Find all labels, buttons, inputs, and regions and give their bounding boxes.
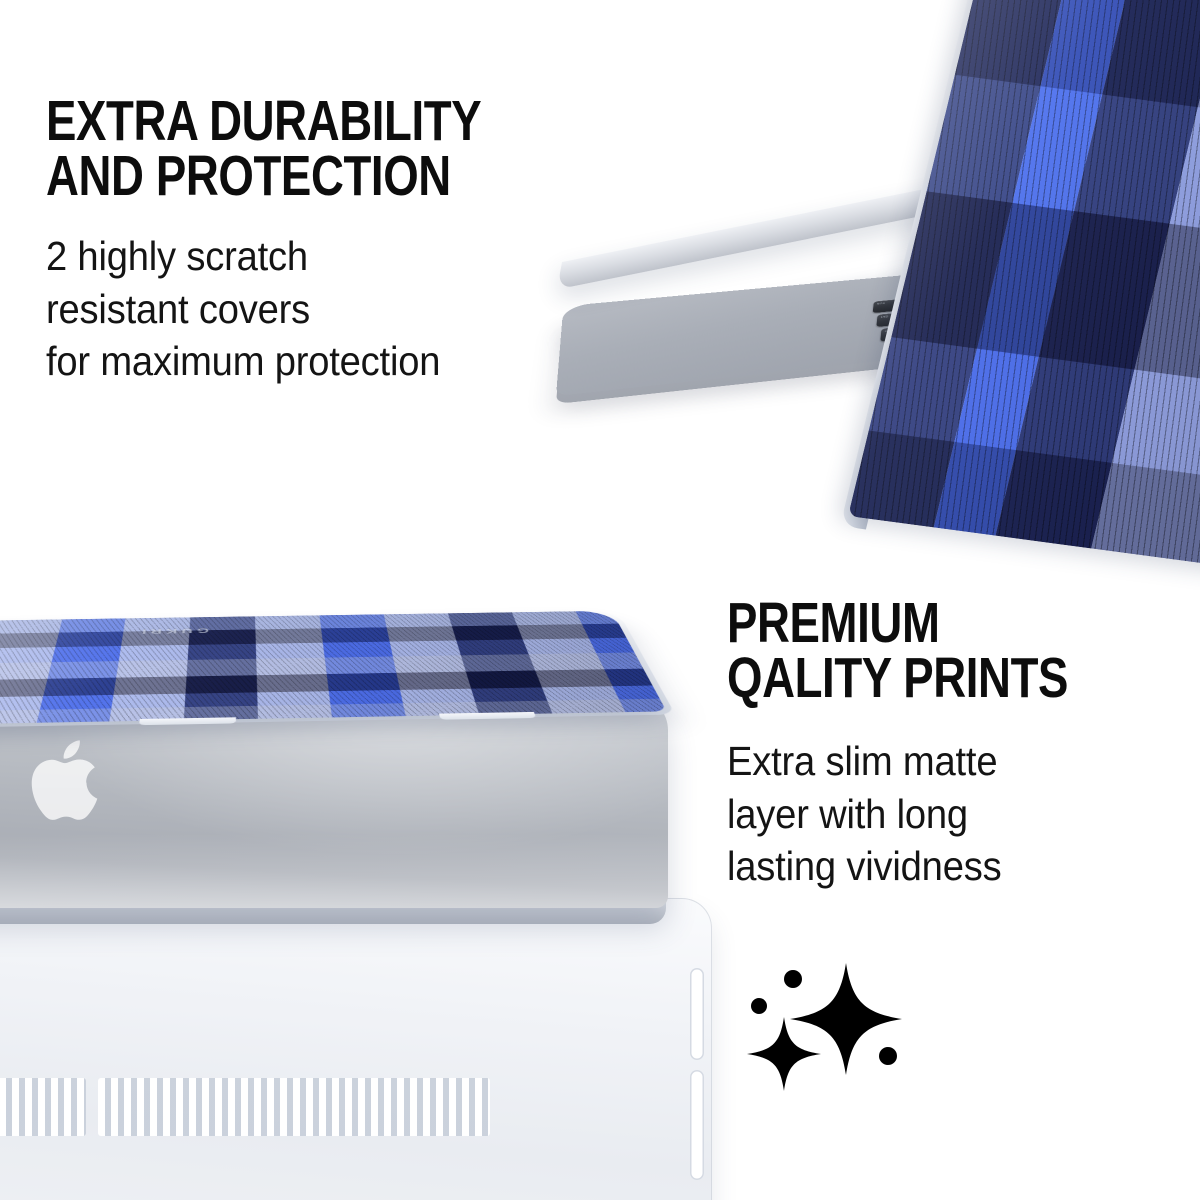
body-line: lasting vividness [727, 840, 1123, 892]
plaid-pattern-cover [0, 611, 667, 725]
plaid-top-cover: GUKRI [0, 611, 667, 725]
premium-headline: PREMIUM QALITY PRINTS [727, 596, 1068, 705]
headline-line: PREMIUM [727, 596, 1068, 651]
headline-line: QALITY PRINTS [727, 651, 1068, 706]
body-line: resistant covers [46, 283, 552, 335]
headline-line: AND PROTECTION [46, 149, 481, 204]
headline-line: EXTRA DURABILITY [46, 94, 481, 149]
durability-headline: EXTRA DURABILITY AND PROTECTION [46, 94, 481, 203]
macbook-lid [0, 696, 680, 946]
durability-body: 2 highly scratch resistant covers for ma… [46, 230, 552, 387]
body-line: for maximum protection [46, 335, 552, 387]
exploded-case-stack: GUKRI [0, 468, 750, 1200]
cover-face: GUKRI [0, 611, 667, 725]
vent-slots-left [0, 1078, 86, 1136]
port-cutout [690, 1070, 704, 1180]
body-line: layer with long [727, 788, 1123, 840]
sparkle-icon [742, 955, 932, 1095]
product-feature-banner: esc F1 F2 F3 F4 tab caps [0, 0, 1200, 1200]
port-cutout [690, 968, 704, 1060]
open-laptop-illustration: esc F1 F2 F3 F4 tab caps [548, 0, 1200, 456]
premium-body: Extra slim matte layer with long lasting… [727, 735, 1123, 892]
body-line: Extra slim matte [727, 735, 1123, 787]
macbook-lid-face [0, 696, 668, 908]
macbook-lid-sheen [0, 834, 668, 908]
apple-logo-icon [28, 732, 112, 828]
premium-copy-block: PREMIUM QALITY PRINTS Extra slim matte l… [727, 596, 1153, 893]
vent-slots-right [98, 1078, 490, 1136]
durability-copy-block: EXTRA DURABILITY AND PROTECTION 2 highly… [46, 94, 590, 388]
body-line: 2 highly scratch [46, 230, 552, 282]
